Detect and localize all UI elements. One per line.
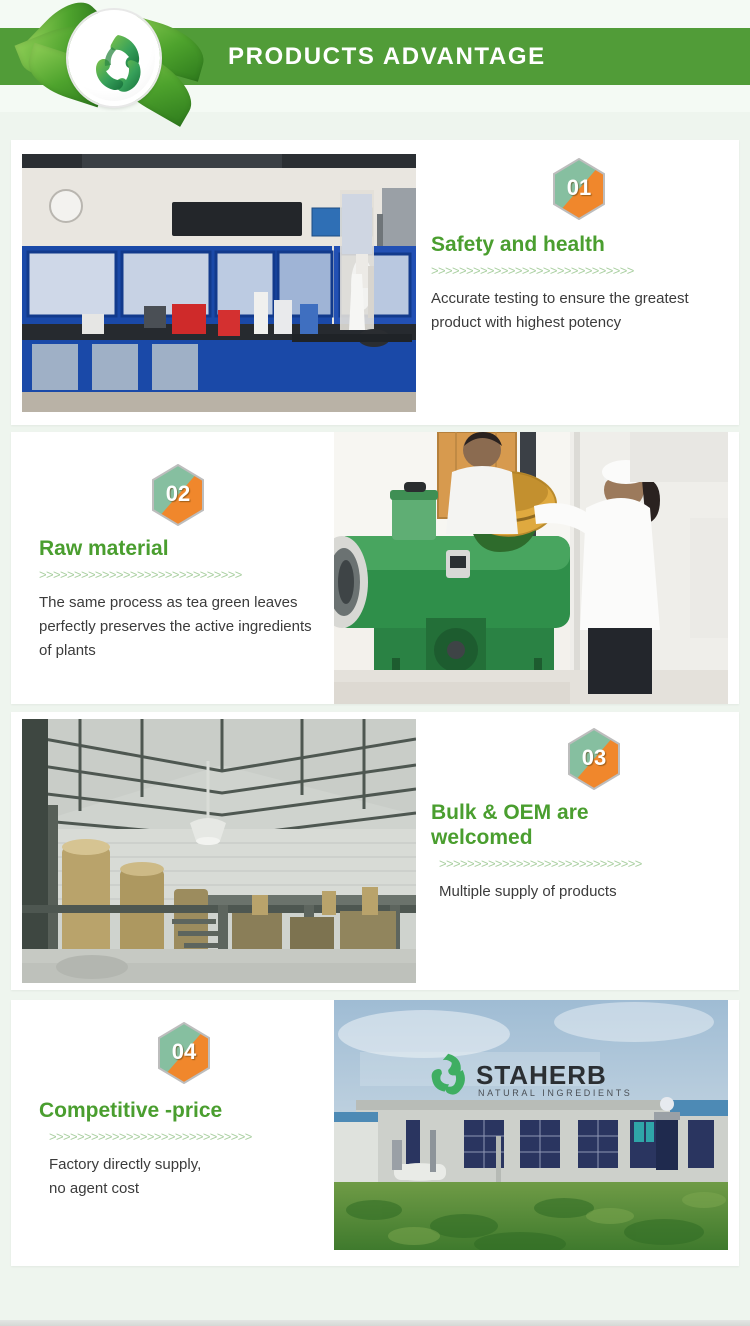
card-text-03: 03 Bulk & OEM are welcomed >>>>>>>>>>>>>…: [431, 728, 731, 904]
card-text-02: 02 Raw material >>>>>>>>>>>>>>>>>>>>>>>>…: [39, 464, 329, 663]
card-image-roasting-machine: [334, 432, 728, 704]
company-logo: [18, 2, 218, 110]
products-advantage-page: PRODUCTS ADVANTAGE: [0, 0, 750, 1326]
advantage-card-02: 02 Raw material >>>>>>>>>>>>>>>>>>>>>>>>…: [11, 432, 739, 704]
chevron-divider-01: >>>>>>>>>>>>>>>>>>>>>>>>>>>>>: [431, 263, 727, 278]
advantage-card-03: 03 Bulk & OEM are welcomed >>>>>>>>>>>>>…: [11, 712, 739, 990]
card-image-factory-building: STAHERB NATURAL INGREDIENTS: [334, 1000, 728, 1250]
card-image-extraction-workshop: [22, 719, 416, 983]
step-badge-01: 01: [552, 158, 606, 220]
card-description-01: Accurate testing to ensure the greatest …: [431, 287, 693, 335]
building-tagline-text: NATURAL INGREDIENTS: [478, 1088, 632, 1098]
card-description-03: Multiple supply of products: [439, 880, 639, 904]
advantage-card-01: 01 Safety and health >>>>>>>>>>>>>>>>>>>…: [11, 140, 739, 425]
page-title: PRODUCTS ADVANTAGE: [228, 41, 546, 73]
page-header: PRODUCTS ADVANTAGE: [0, 0, 750, 112]
step-number-01: 01: [552, 158, 606, 220]
card-title-04: Competitive -price: [39, 1098, 329, 1123]
step-number-04: 04: [157, 1022, 211, 1084]
card-text-04: 04 Competitive -price >>>>>>>>>>>>>>>>>>…: [39, 1022, 329, 1201]
building-brand-text: STAHERB: [476, 1060, 607, 1090]
step-badge-02: 02: [151, 464, 205, 526]
card-title-03: Bulk & OEM are welcomed: [431, 800, 651, 850]
chevron-divider-04: >>>>>>>>>>>>>>>>>>>>>>>>>>>>>: [49, 1129, 329, 1144]
advantage-card-04: STAHERB NATURAL INGREDIENTS: [11, 1000, 739, 1266]
step-badge-04: 04: [157, 1022, 211, 1084]
card-text-01: 01 Safety and health >>>>>>>>>>>>>>>>>>>…: [431, 158, 727, 335]
step-number-02: 02: [151, 464, 205, 526]
chevron-divider-03: >>>>>>>>>>>>>>>>>>>>>>>>>>>>>: [439, 856, 731, 871]
step-number-03: 03: [567, 728, 621, 790]
leaf-recycle-logo-icon: [85, 28, 151, 96]
card-image-laboratory: [22, 154, 416, 412]
logo-circle: [68, 10, 160, 106]
step-badge-03: 03: [567, 728, 621, 790]
card-title-02: Raw material: [39, 536, 329, 561]
card-description-04: Factory directly supply, no agent cost: [49, 1153, 329, 1201]
chevron-divider-02: >>>>>>>>>>>>>>>>>>>>>>>>>>>>>: [39, 567, 329, 582]
card-title-01: Safety and health: [431, 232, 727, 257]
footer-strip: [0, 1320, 750, 1326]
card-description-02: The same process as tea green leaves per…: [39, 591, 317, 663]
